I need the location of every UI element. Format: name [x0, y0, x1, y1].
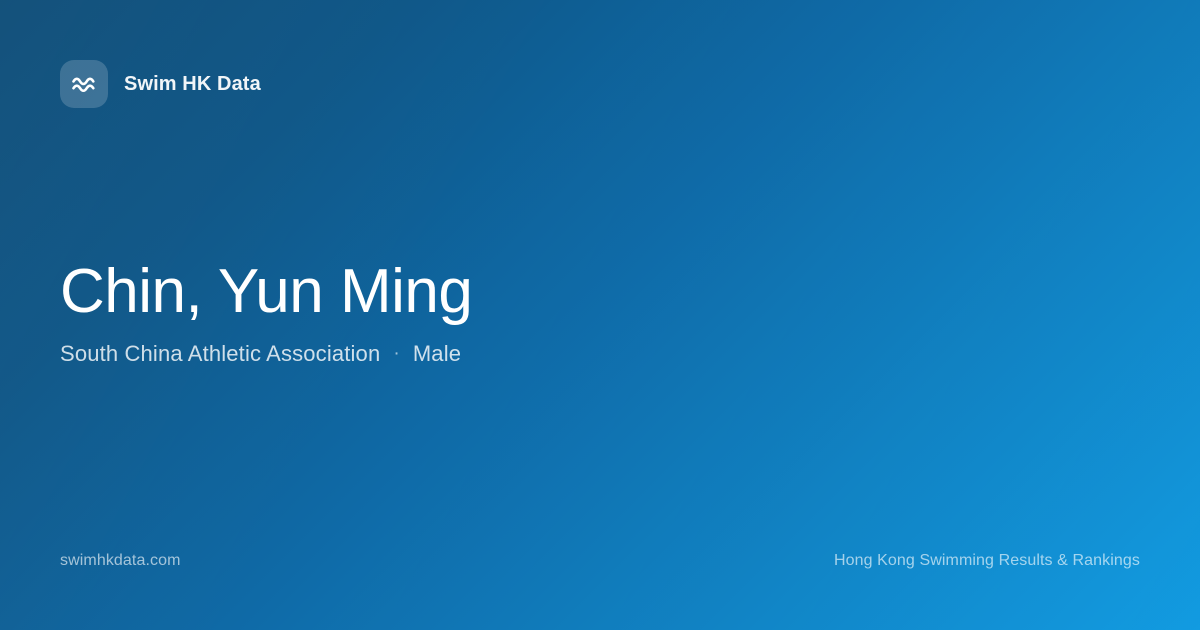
og-share-card: Swim HK Data Chin, Yun Ming South China …: [0, 0, 1200, 630]
footer-site-url: swimhkdata.com: [60, 552, 181, 570]
athlete-club: South China Athletic Association: [60, 341, 380, 367]
athlete-meta: South China Athletic Association · Male: [60, 341, 1140, 367]
card-footer: swimhkdata.com Hong Kong Swimming Result…: [60, 552, 1140, 570]
brand-name: Swim HK Data: [124, 73, 261, 96]
meta-separator: ·: [380, 343, 412, 365]
wave-approx-icon: [60, 60, 108, 108]
footer-tagline: Hong Kong Swimming Results & Rankings: [834, 552, 1140, 570]
card-content: Swim HK Data Chin, Yun Ming South China …: [0, 0, 1200, 630]
athlete-name: Chin, Yun Ming: [60, 259, 1140, 326]
athlete-gender: Male: [413, 341, 461, 367]
headline-block: Chin, Yun Ming South China Athletic Asso…: [60, 108, 1140, 552]
brand-header: Swim HK Data: [60, 60, 1140, 108]
